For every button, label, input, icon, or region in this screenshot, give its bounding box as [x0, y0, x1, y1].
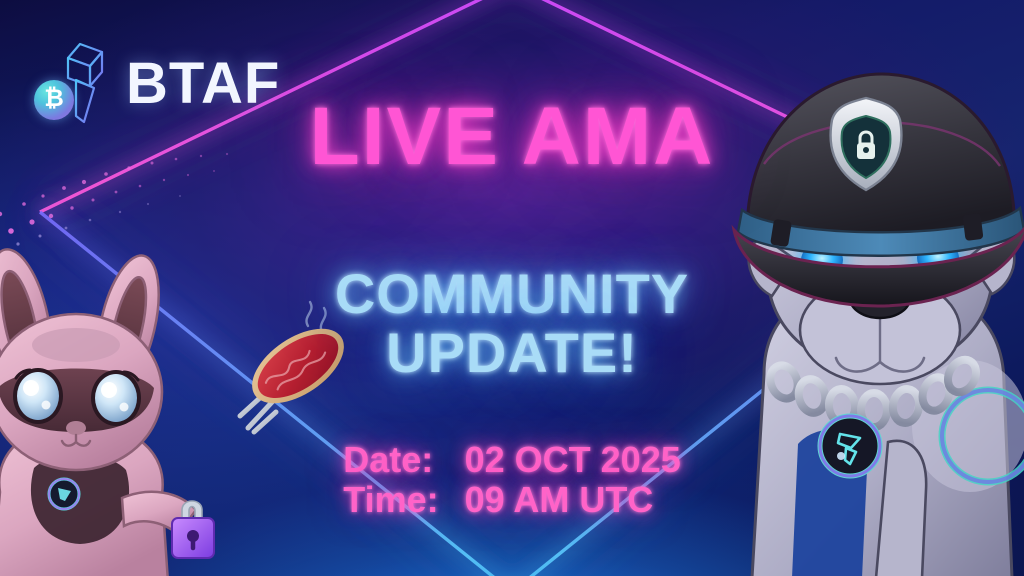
headline-live-ama: LIVE AMA — [0, 96, 1024, 178]
time-value: 09 AM UTC — [465, 480, 681, 520]
ama-banner: ₿ BTAF LIVE AMA COMMUNITY UPDATE! Date: … — [0, 0, 1024, 576]
event-datetime-block: Date: 02 OCT 2025 Time: 09 AM UTC — [0, 440, 1024, 521]
subtitle-community-update: COMMUNITY UPDATE! — [0, 264, 1024, 383]
date-value: 02 OCT 2025 — [465, 440, 681, 480]
subtitle-line-1: COMMUNITY — [0, 264, 1024, 323]
date-label: Date: — [343, 440, 438, 480]
subtitle-line-2: UPDATE! — [0, 323, 1024, 382]
time-label: Time: — [343, 480, 438, 520]
